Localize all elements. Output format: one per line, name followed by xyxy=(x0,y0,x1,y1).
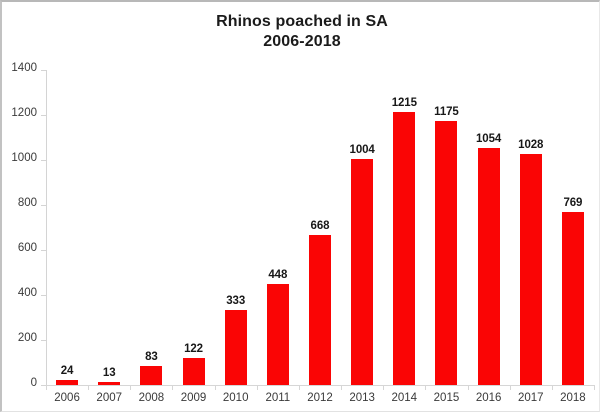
x-tick xyxy=(88,385,89,390)
y-tick-label: 800 xyxy=(18,197,37,209)
bar-2014[interactable] xyxy=(393,112,415,385)
x-axis-label-2014: 2014 xyxy=(392,392,418,404)
x-tick xyxy=(130,385,131,390)
bar-group-2015[interactable]: 1175 xyxy=(425,70,467,385)
bar-value-label-2012: 668 xyxy=(311,220,330,232)
bar-2013[interactable] xyxy=(351,159,373,385)
x-axis-label-2009: 2009 xyxy=(181,392,207,404)
x-axis-label-2006: 2006 xyxy=(54,392,80,404)
chart-title-line1: Rhinos poached in SA xyxy=(216,13,388,30)
bar-group-2011[interactable]: 448 xyxy=(257,70,299,385)
chart-title: Rhinos poached in SA 2006-2018 xyxy=(2,12,600,52)
bar-group-2016[interactable]: 1054 xyxy=(468,70,510,385)
x-axis-label-2013: 2013 xyxy=(349,392,375,404)
x-axis-label-2015: 2015 xyxy=(434,392,460,404)
bars-layer: 2413831223334486681004121511751054102876… xyxy=(46,70,594,385)
y-tick-label: 600 xyxy=(18,242,37,254)
bar-group-2012[interactable]: 668 xyxy=(299,70,341,385)
bar-group-2008[interactable]: 83 xyxy=(130,70,172,385)
x-axis-label-2018: 2018 xyxy=(560,392,586,404)
x-tick xyxy=(46,385,47,390)
y-tick-label: 400 xyxy=(18,287,37,299)
chart-title-line2: 2006-2018 xyxy=(2,32,600,52)
bar-group-2014[interactable]: 1215 xyxy=(383,70,425,385)
y-tick-label: 0 xyxy=(31,377,37,389)
bar-group-2006[interactable]: 24 xyxy=(46,70,88,385)
bar-value-label-2013: 1004 xyxy=(350,144,375,156)
x-axis-label-2016: 2016 xyxy=(476,392,502,404)
bar-2009[interactable] xyxy=(183,358,205,385)
bar-2008[interactable] xyxy=(140,366,162,385)
x-tick xyxy=(594,385,595,390)
x-tick xyxy=(257,385,258,390)
bar-value-label-2018: 769 xyxy=(563,197,582,209)
bar-value-label-2015: 1175 xyxy=(434,106,459,118)
bar-group-2013[interactable]: 1004 xyxy=(341,70,383,385)
bar-2007[interactable] xyxy=(98,382,120,385)
bar-group-2009[interactable]: 122 xyxy=(172,70,214,385)
x-tick xyxy=(215,385,216,390)
x-tick xyxy=(425,385,426,390)
bar-value-label-2009: 122 xyxy=(184,343,203,355)
x-tick xyxy=(468,385,469,390)
bar-group-2007[interactable]: 13 xyxy=(88,70,130,385)
x-axis-label-2017: 2017 xyxy=(518,392,544,404)
bar-2010[interactable] xyxy=(225,310,247,385)
bar-2017[interactable] xyxy=(520,154,542,385)
plot-area: 0200400600800100012001400 24138312233344… xyxy=(46,70,594,385)
x-tick xyxy=(172,385,173,390)
y-tick-label: 1400 xyxy=(11,62,37,74)
bar-2011[interactable] xyxy=(267,284,289,385)
x-axis-line xyxy=(46,385,594,386)
y-tick-label: 1200 xyxy=(11,107,37,119)
bar-value-label-2008: 83 xyxy=(145,351,158,363)
bar-value-label-2011: 448 xyxy=(268,269,287,281)
bar-value-label-2007: 13 xyxy=(103,367,116,379)
bar-group-2018[interactable]: 769 xyxy=(552,70,594,385)
bar-group-2010[interactable]: 333 xyxy=(215,70,257,385)
bar-value-label-2010: 333 xyxy=(226,295,245,307)
bar-value-label-2014: 1215 xyxy=(392,97,417,109)
bar-2012[interactable] xyxy=(309,235,331,385)
x-axis-label-2010: 2010 xyxy=(223,392,249,404)
y-tick-label: 200 xyxy=(18,332,37,344)
bar-group-2017[interactable]: 1028 xyxy=(510,70,552,385)
x-axis-label-2012: 2012 xyxy=(307,392,333,404)
x-axis-label-2011: 2011 xyxy=(265,392,290,404)
bar-value-label-2016: 1054 xyxy=(476,133,501,145)
x-tick xyxy=(299,385,300,390)
x-tick xyxy=(510,385,511,390)
bar-2015[interactable] xyxy=(435,121,457,385)
x-tick xyxy=(383,385,384,390)
bar-2016[interactable] xyxy=(478,148,500,385)
x-axis-label-2008: 2008 xyxy=(139,392,165,404)
x-axis-labels: 2006200720082009201020112012201320142015… xyxy=(46,392,594,410)
bar-2006[interactable] xyxy=(56,380,78,385)
bar-value-label-2006: 24 xyxy=(61,365,74,377)
x-axis-label-2007: 2007 xyxy=(96,392,122,404)
bar-value-label-2017: 1028 xyxy=(518,139,543,151)
y-tick-label: 1000 xyxy=(11,152,37,164)
bar-2018[interactable] xyxy=(562,212,584,385)
x-tick xyxy=(341,385,342,390)
rhino-poaching-bar-chart: Rhinos poached in SA 2006-2018 020040060… xyxy=(0,0,600,412)
x-tick xyxy=(552,385,553,390)
